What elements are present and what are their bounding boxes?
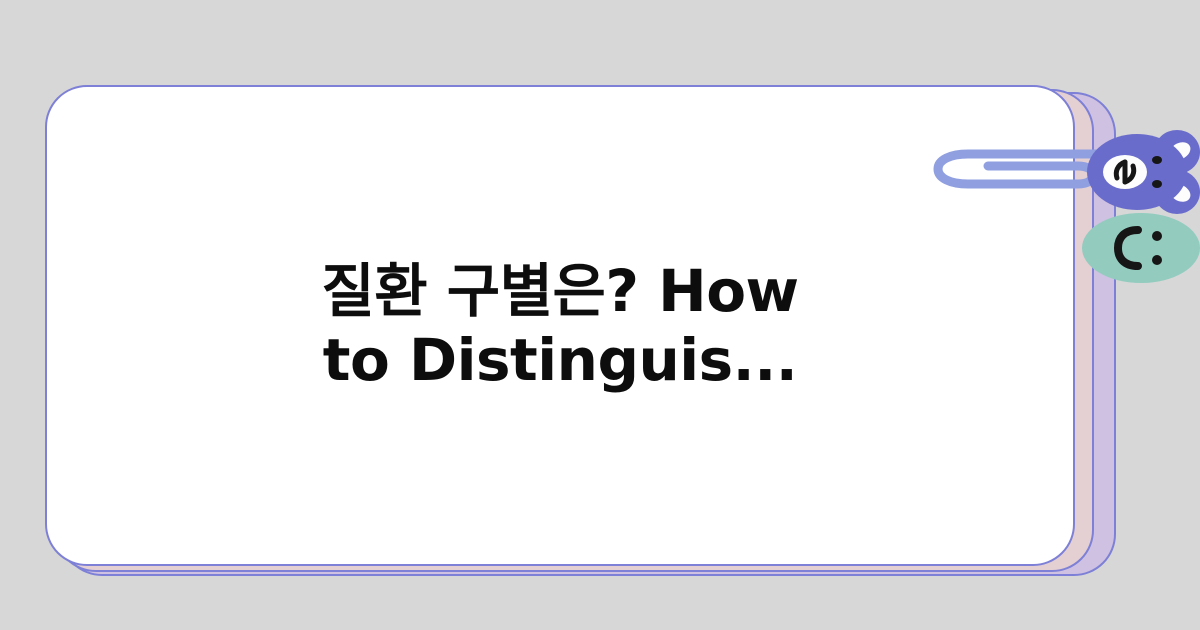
title-container: 질환 구별은? How to Distinguis... — [45, 85, 1075, 566]
thumbnail-canvas: 질환 구별은? How to Distinguis... — [0, 0, 1200, 630]
smiley-sticker-icon[interactable] — [1080, 212, 1200, 284]
page-title: 질환 구별은? How to Distinguis... — [280, 257, 840, 394]
bear-sticker-icon[interactable] — [1085, 122, 1200, 220]
